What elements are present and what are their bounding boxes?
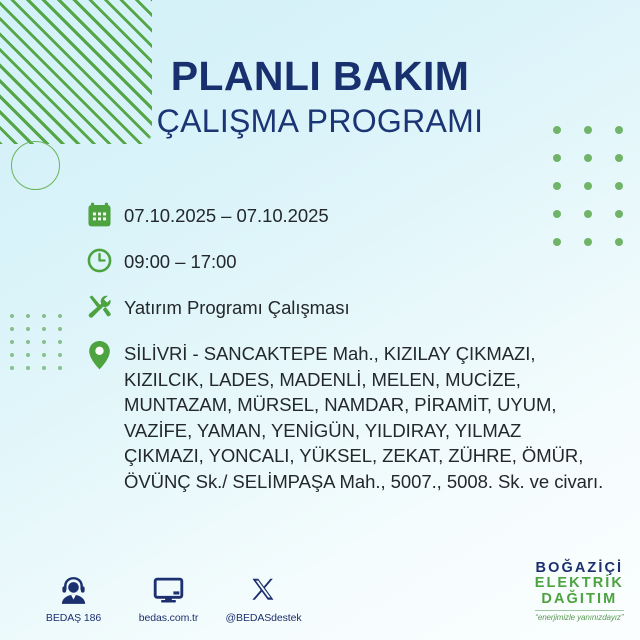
- logo-line-bogazici: BOĞAZİÇİ: [535, 561, 624, 577]
- poster-header: PLANLI BAKIM ÇALIŞMA PROGRAMI: [0, 56, 640, 140]
- address-text: SİLİVRİ - SANCAKTEPE Mah., KIZILAY ÇIKMA…: [124, 338, 606, 495]
- info-row-time: 09:00 – 17:00: [86, 246, 606, 277]
- planned-maintenance-poster: PLANLI BAKIM ÇALIŞMA PROGRAMI 07.10.2025…: [0, 0, 640, 640]
- headset-agent-icon: [26, 573, 121, 607]
- logo-line-elektrik: ELEKTRİK: [535, 576, 624, 592]
- info-row-address: SİLİVRİ - SANCAKTEPE Mah., KIZILAY ÇIKMA…: [86, 338, 606, 495]
- footer-label-social: @BEDASdestek: [216, 612, 311, 624]
- page-title: PLANLI BAKIM: [0, 56, 640, 98]
- tools-icon: [86, 292, 124, 323]
- calendar-icon: [86, 200, 124, 231]
- info-row-date: 07.10.2025 – 07.10.2025: [86, 200, 606, 231]
- footer-label-call-center: BEDAŞ 186: [26, 612, 121, 624]
- poster-footer: BEDAŞ 186 bedas.com.tr: [0, 552, 640, 640]
- logo-divider: [535, 610, 624, 611]
- date-range-text: 07.10.2025 – 07.10.2025: [124, 200, 329, 228]
- footer-contact-items: BEDAŞ 186 bedas.com.tr: [26, 573, 311, 624]
- footer-item-call-center[interactable]: BEDAŞ 186: [26, 573, 121, 624]
- map-pin-icon: [86, 338, 124, 370]
- work-type-text: Yatırım Programı Çalışması: [124, 292, 350, 320]
- circle-outline-decoration: [11, 141, 60, 190]
- company-logo: BOĞAZİÇİ ELEKTRİK DAĞITIM “enerjimizle y…: [535, 561, 624, 623]
- x-social-icon: [216, 573, 311, 607]
- outage-info-block: 07.10.2025 – 07.10.2025 09:00 – 17:00 Ya…: [86, 200, 606, 495]
- footer-item-website[interactable]: bedas.com.tr: [121, 573, 216, 624]
- logo-line-dagitim: DAĞITIM: [535, 592, 624, 608]
- footer-label-website: bedas.com.tr: [121, 612, 216, 624]
- page-subtitle: ÇALIŞMA PROGRAMI: [0, 104, 640, 140]
- time-range-text: 09:00 – 17:00: [124, 246, 237, 274]
- info-row-work-type: Yatırım Programı Çalışması: [86, 292, 606, 323]
- monitor-icon: [121, 573, 216, 607]
- footer-item-social[interactable]: @BEDASdestek: [216, 573, 311, 624]
- dot-grid-decoration-left: [10, 314, 74, 379]
- clock-icon: [86, 246, 124, 277]
- logo-tagline: “enerjimizle yanınızdayız”: [535, 613, 624, 622]
